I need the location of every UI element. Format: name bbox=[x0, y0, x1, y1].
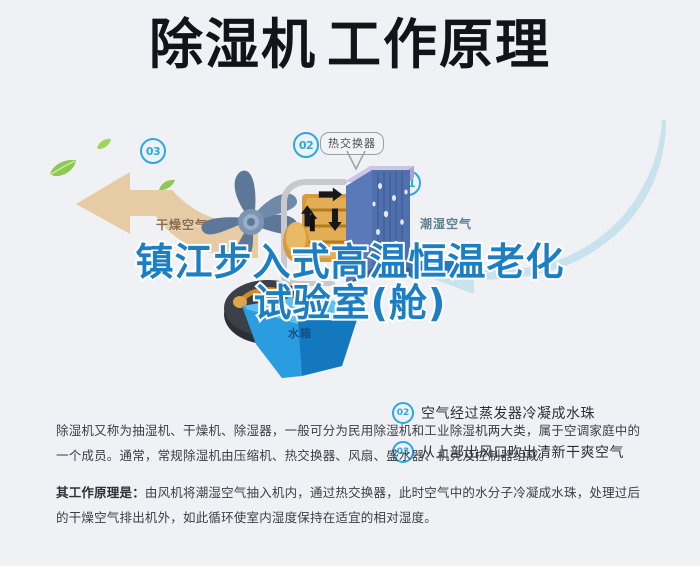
description-text: 除湿机又称为抽湿机、干燥机、除湿器，一般可分为民用除湿机和工业除湿机两大类，属于… bbox=[56, 418, 648, 542]
humid-air-label: 潮湿空气 bbox=[420, 215, 472, 232]
page-title-part2: 工作原理 bbox=[327, 13, 551, 76]
badge-step-03: 03 bbox=[140, 138, 166, 164]
page-title-part1: 除湿机 bbox=[149, 13, 317, 76]
paragraph-2-lead: 其工作原理是： bbox=[56, 485, 145, 500]
badge-step-02: 02 bbox=[293, 132, 319, 158]
water-tank-label: 水箱 bbox=[288, 325, 312, 341]
leaf-icon bbox=[96, 138, 112, 150]
infographic-page: 除湿机工作原理 bbox=[0, 0, 700, 566]
paragraph-2: 其工作原理是：由风机将潮湿空气抽入机内，通过热交换器，此时空气中的水分子冷凝成水… bbox=[56, 480, 648, 530]
heat-exchanger-block bbox=[340, 156, 418, 286]
callout-stem-icon bbox=[345, 151, 367, 171]
paragraph-1: 除湿机又称为抽湿机、干燥机、除湿器，一般可分为民用除湿机和工业除湿机两大类，属于… bbox=[56, 418, 648, 468]
page-title: 除湿机工作原理 bbox=[0, 18, 700, 72]
dehumidifier-diagram: 干燥空气 03 潮湿空气 01 bbox=[0, 120, 700, 410]
divider bbox=[56, 408, 644, 409]
